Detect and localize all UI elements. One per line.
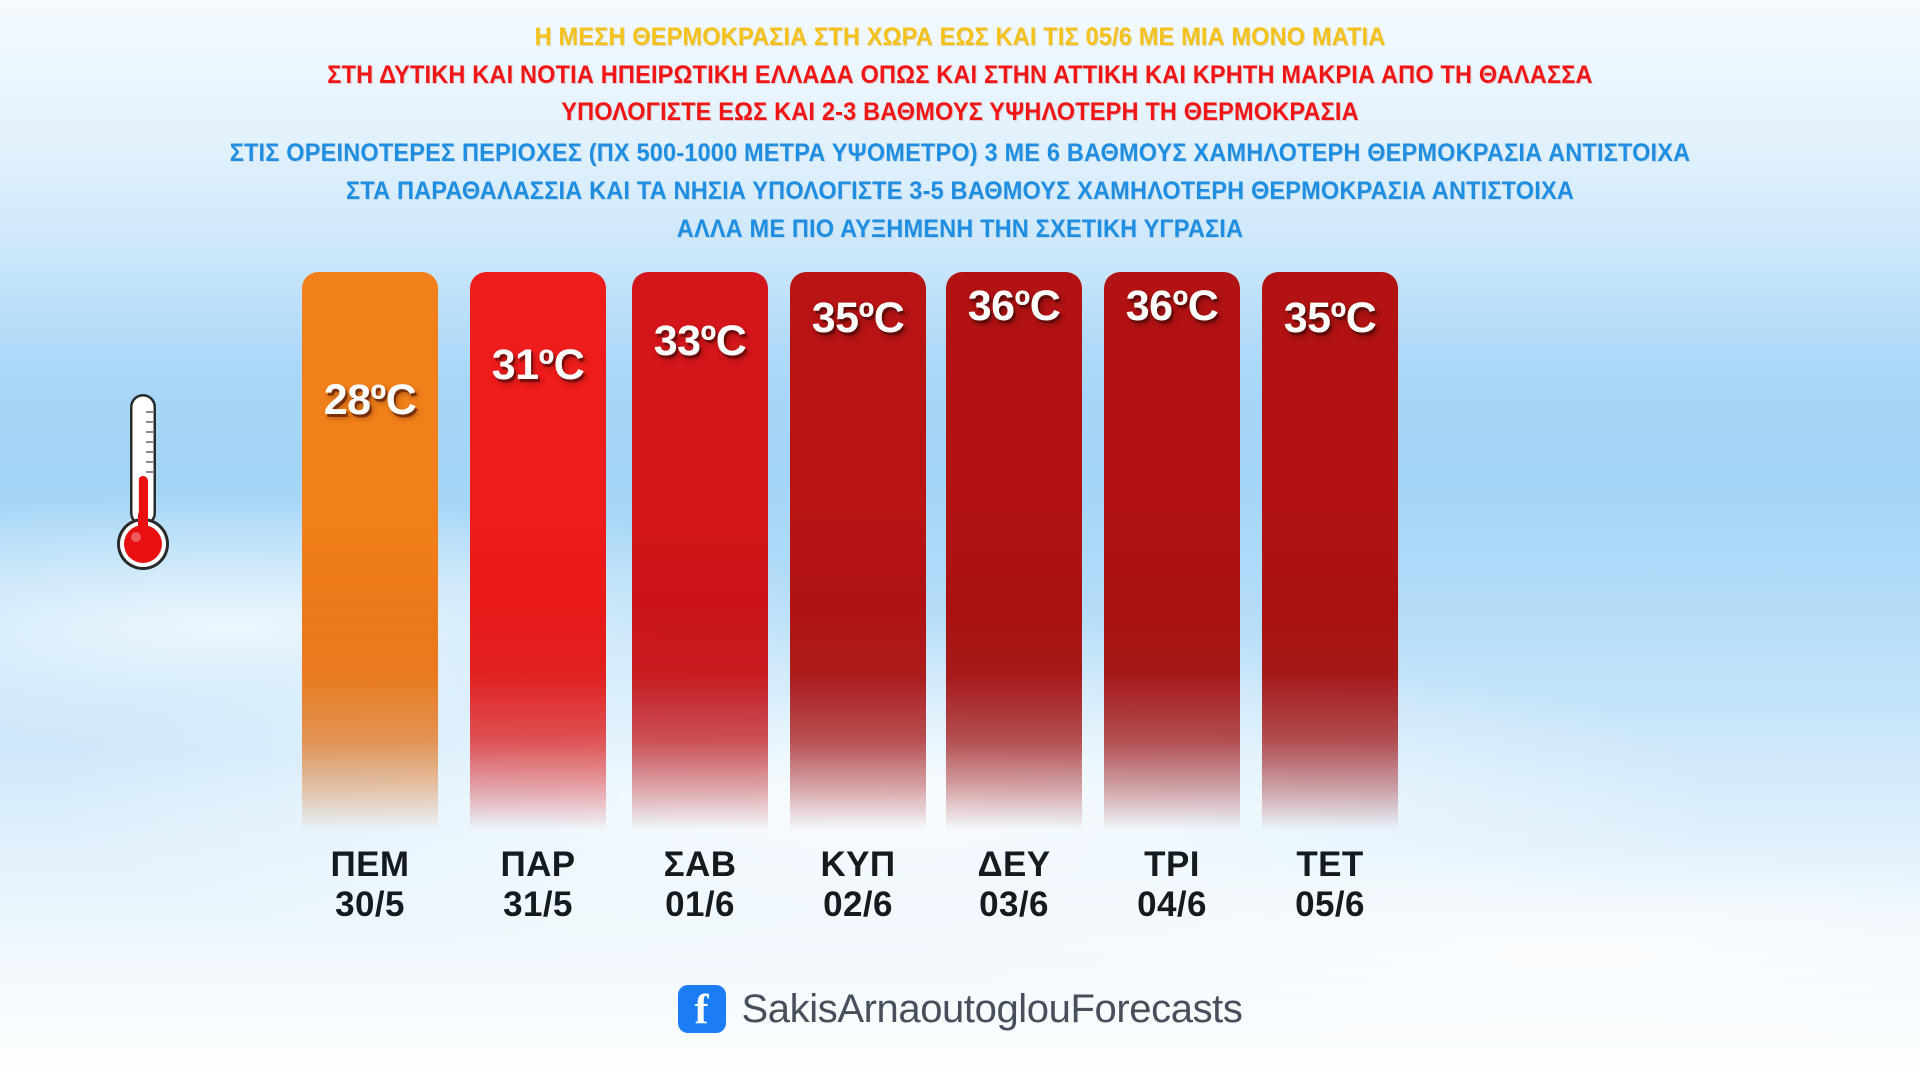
- temperature-bar[interactable]: [946, 272, 1082, 830]
- day-label: ΤΡΙ04/6: [1092, 845, 1252, 925]
- day-date: 02/6: [778, 885, 938, 925]
- temperature-label: 31ºC: [470, 341, 606, 390]
- facebook-icon[interactable]: f: [678, 985, 726, 1033]
- day-name: ΚΥΠ: [820, 845, 895, 884]
- day-date: 01/6: [620, 885, 780, 925]
- temperature-bar[interactable]: [302, 272, 438, 830]
- day-date: 05/6: [1250, 885, 1410, 925]
- temperature-label: 35ºC: [790, 294, 926, 343]
- day-label: ΣΑΒ01/6: [620, 845, 780, 925]
- day-name: ΤΕΤ: [1296, 845, 1363, 884]
- temperature-bar[interactable]: [1104, 272, 1240, 830]
- temperature-label: 35ºC: [1262, 294, 1398, 343]
- facebook-icon-glyph: f: [678, 990, 726, 1032]
- day-label: ΤΕΤ05/6: [1250, 845, 1410, 925]
- temperature-label: 36ºC: [946, 282, 1082, 331]
- day-label: ΠΑΡ31/5: [458, 845, 618, 925]
- day-date: 31/5: [458, 885, 618, 925]
- day-label: ΔΕΥ03/6: [934, 845, 1094, 925]
- day-name: ΔΕΥ: [977, 845, 1050, 884]
- facebook-page-name: SakisArnaoutoglouForecasts: [742, 987, 1243, 1031]
- temperature-label: 36ºC: [1104, 282, 1240, 331]
- day-label: ΚΥΠ02/6: [778, 845, 938, 925]
- day-name: ΤΡΙ: [1144, 845, 1200, 884]
- day-name: ΠΑΡ: [500, 845, 575, 884]
- day-date: 30/5: [290, 885, 450, 925]
- temperature-bar[interactable]: [790, 272, 926, 830]
- day-name: ΠΕΜ: [331, 845, 410, 884]
- footer-credit: f SakisArnaoutoglouForecasts: [0, 985, 1920, 1033]
- temperature-bar-chart: 28ºCΠΕΜ30/531ºCΠΑΡ31/533ºCΣΑΒ01/635ºCΚΥΠ…: [0, 0, 1920, 1080]
- temperature-bar[interactable]: [1262, 272, 1398, 830]
- day-label: ΠΕΜ30/5: [290, 845, 450, 925]
- temperature-label: 33ºC: [632, 317, 768, 366]
- day-name: ΣΑΒ: [664, 845, 737, 884]
- temperature-label: 28ºC: [302, 376, 438, 425]
- day-date: 03/6: [934, 885, 1094, 925]
- day-date: 04/6: [1092, 885, 1252, 925]
- weather-infographic: Η ΜΕΣΗ ΘΕΡΜΟΚΡΑΣΙΑ ΣΤΗ ΧΩΡΑ ΕΩΣ ΚΑΙ ΤΙΣ …: [0, 0, 1920, 1080]
